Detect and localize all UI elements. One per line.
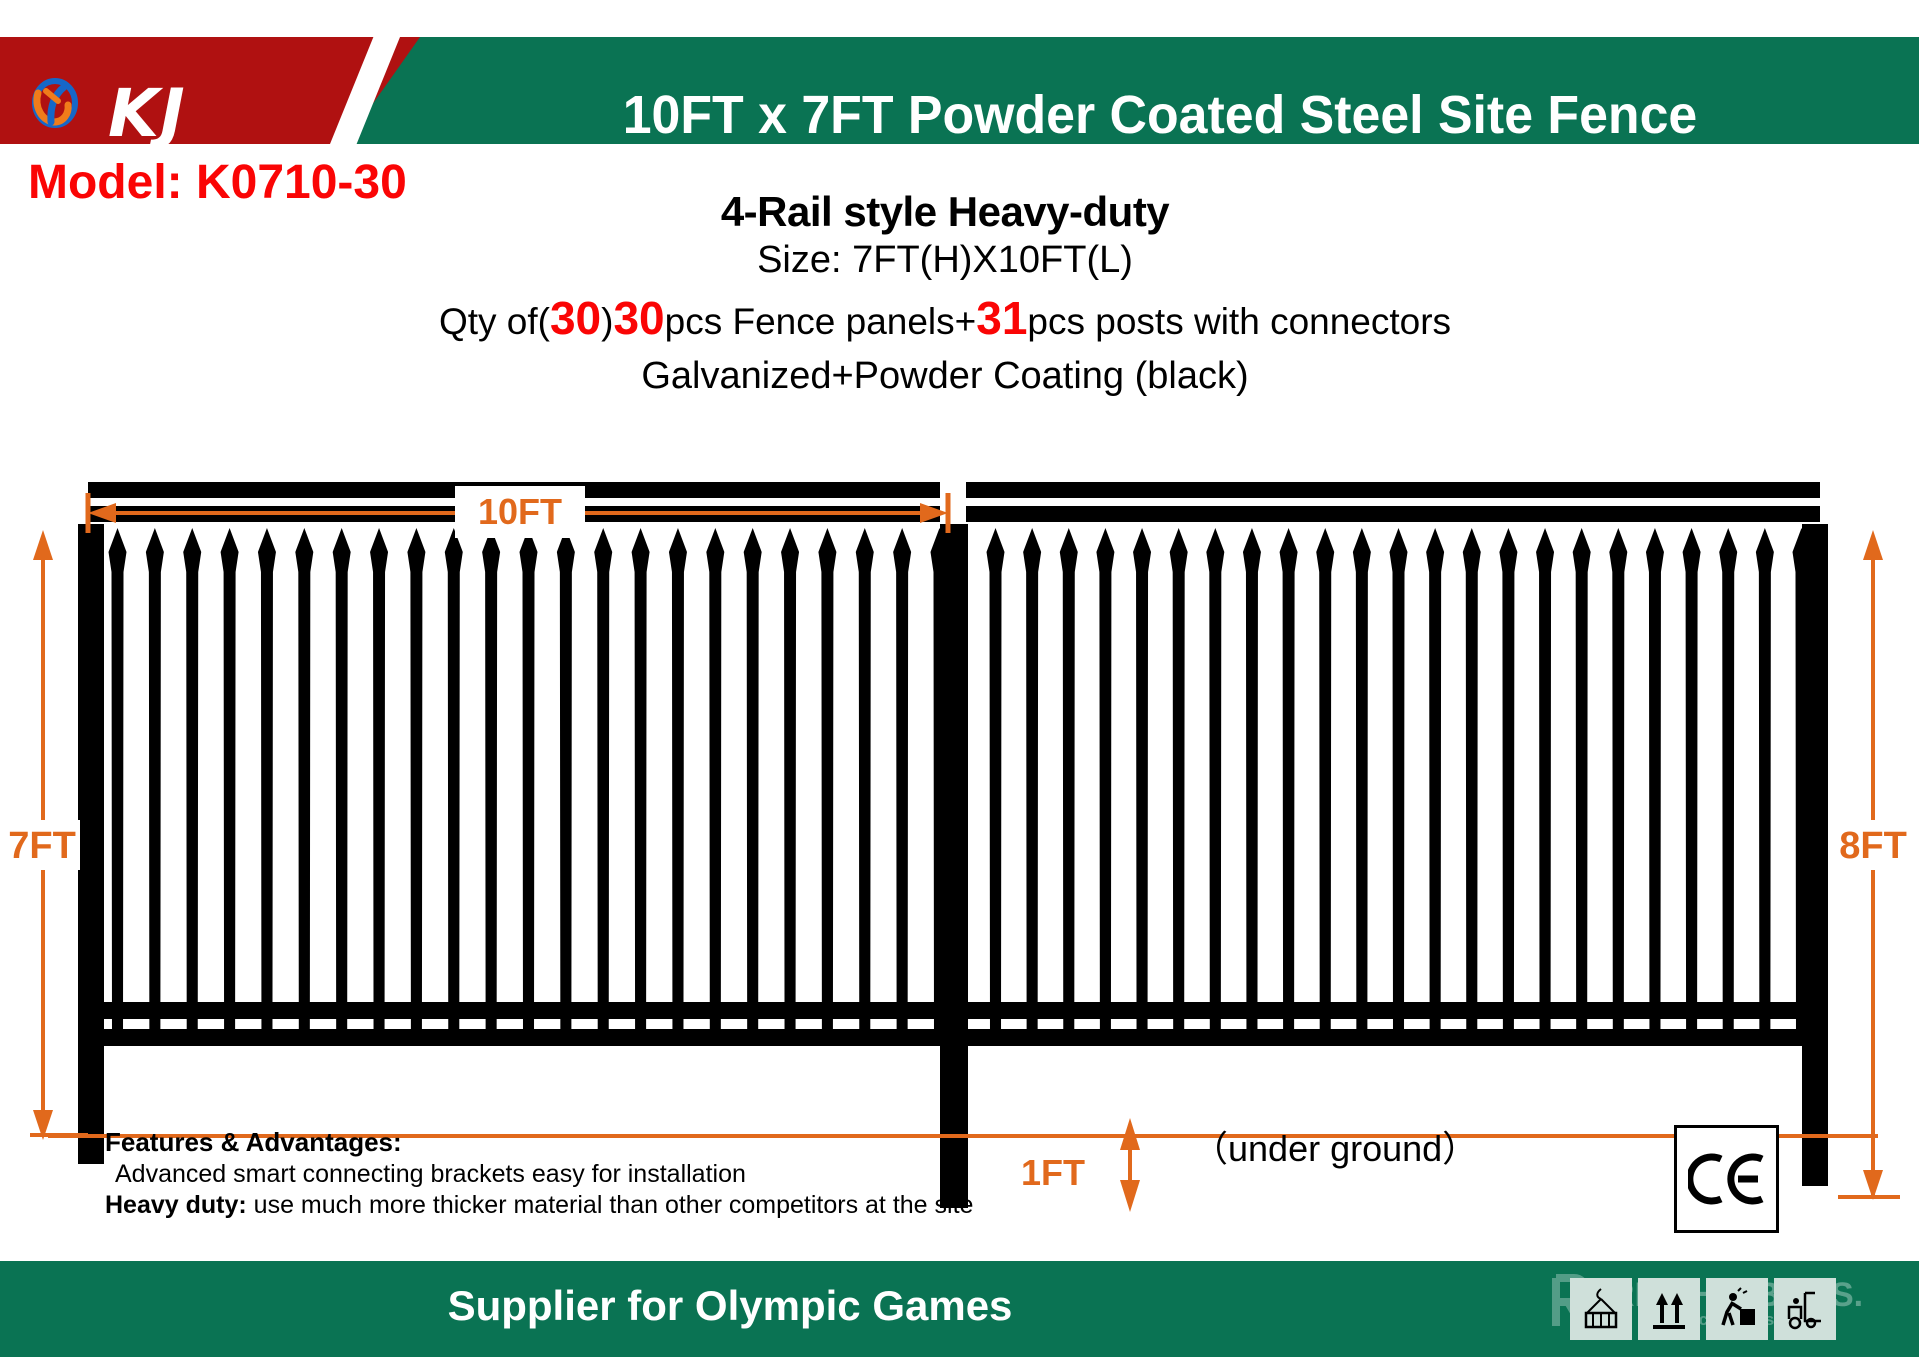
- spec-coating-line: Galvanized+Powder Coating (black): [270, 352, 1620, 401]
- underground-note: （under ground）: [1192, 1120, 1478, 1172]
- fence-picket: [1609, 528, 1627, 1046]
- ce-mark-box: [1674, 1125, 1779, 1233]
- spec-size-line: Size: 7FT(H)X10FT(L): [270, 235, 1620, 286]
- brand-name: KJ: [108, 75, 186, 152]
- picket-group-left: [109, 528, 949, 1046]
- arrow-down-1ft: [1120, 1180, 1140, 1212]
- fence-picket: [482, 528, 500, 1046]
- fence-picket: [1756, 528, 1774, 1046]
- fence-picket: [333, 528, 351, 1046]
- fence-picket: [407, 528, 425, 1046]
- fence-panel-left: [88, 482, 949, 1046]
- fence-picket: [445, 528, 463, 1046]
- dim-label-bg-7ft: [6, 820, 80, 870]
- post-right: [1802, 524, 1828, 1186]
- this-way-up-icon: [1638, 1278, 1700, 1340]
- rail-top-lower-left: [88, 506, 940, 522]
- fence-picket: [520, 528, 538, 1046]
- features-and-advantages: Features & Advantages: Advanced smart co…: [105, 1126, 973, 1222]
- fence-picket: [893, 528, 911, 1046]
- fence-picket: [781, 528, 799, 1046]
- fence-picket: [557, 528, 575, 1046]
- arrow-down-8ft: [1863, 1170, 1883, 1200]
- arrow-up-8ft: [1863, 530, 1883, 560]
- fence-picket: [987, 528, 1005, 1046]
- dimension-height-8ft: [1838, 538, 1900, 1197]
- dim-label-bg-10ft: [455, 486, 585, 538]
- ce-mark-icon: [1688, 1152, 1766, 1206]
- fence-picket: [1096, 528, 1114, 1046]
- fence-picket: [109, 528, 127, 1046]
- fence-picket: [258, 528, 276, 1046]
- features-heading: Features & Advantages:: [105, 1126, 973, 1159]
- qty-prefix: Qty of(: [439, 301, 550, 342]
- dimension-label-7ft: 7FT: [8, 825, 76, 867]
- dimension-label-1ft: 1FT: [1021, 1152, 1085, 1193]
- picket-group-right: [987, 528, 1811, 1046]
- fence-picket: [1023, 528, 1041, 1046]
- fence-picket: [1536, 528, 1554, 1046]
- fence-picket: [594, 528, 612, 1046]
- shipping-icon-group: [1570, 1278, 1836, 1340]
- qty-paren-value: 30: [550, 292, 601, 344]
- features-line-1: Advanced smart connecting brackets easy …: [105, 1159, 973, 1191]
- qty-posts-value: 31: [976, 292, 1027, 344]
- dim-label-bg-8ft: [1833, 820, 1913, 870]
- arrow-up-7ft: [33, 530, 53, 560]
- sling-here-icon: [1570, 1278, 1632, 1340]
- fence-picket: [931, 528, 949, 1046]
- fence-picket: [1280, 528, 1298, 1046]
- arrow-up-1ft: [1120, 1118, 1140, 1150]
- fence-picket: [146, 528, 164, 1046]
- fence-picket: [1206, 528, 1224, 1046]
- fence-picket: [183, 528, 201, 1046]
- specification-block: 4-Rail style Heavy-duty Size: 7FT(H)X10F…: [270, 188, 1620, 401]
- fence-picket: [295, 528, 313, 1046]
- fence-picket: [1170, 528, 1188, 1046]
- features-line-2: Heavy duty: use much more thicker materi…: [105, 1190, 973, 1222]
- rail-top-lower-right: [966, 506, 1820, 522]
- fence-picket: [221, 528, 239, 1046]
- page-header: KJ 10FT x 7FT Powder Coated Steel Site F…: [0, 37, 1919, 144]
- fence-picket: [744, 528, 762, 1046]
- rail-bottom-upper-left: [88, 1002, 940, 1019]
- fence-picket: [856, 528, 874, 1046]
- fence-picket: [1426, 528, 1444, 1046]
- arrow-down-7ft: [33, 1110, 53, 1140]
- fence-picket: [1390, 528, 1408, 1046]
- spec-quantity-line: Qty of(30)30pcs Fence panels+31pcs posts…: [270, 286, 1620, 351]
- fence-picket: [1573, 528, 1591, 1046]
- fence-picket: [1316, 528, 1334, 1046]
- arrow-right-10ft: [920, 503, 948, 523]
- dimension-label-10ft: 10FT: [478, 491, 562, 532]
- fence-picket: [632, 528, 650, 1046]
- fence-picket: [370, 528, 388, 1046]
- rail-bottom-lower-left: [88, 1029, 940, 1046]
- dimension-width-10ft: [88, 493, 948, 533]
- fence-picket: [1499, 528, 1517, 1046]
- fence-picket: [1463, 528, 1481, 1046]
- qty-panels-unit: pcs Fence panels+: [665, 301, 977, 342]
- fence-picket: [669, 528, 687, 1046]
- post-middle: [940, 524, 968, 1208]
- fence-picket: [818, 528, 836, 1046]
- spec-style-title: 4-Rail style Heavy-duty: [270, 188, 1620, 235]
- arrow-left-10ft: [88, 503, 116, 523]
- fence-picket: [1060, 528, 1078, 1046]
- qty-close-paren: ): [601, 301, 613, 342]
- post-left: [78, 524, 104, 1164]
- page-title: 10FT x 7FT Powder Coated Steel Site Fenc…: [445, 84, 1875, 146]
- dimension-label-8ft: 8FT: [1839, 825, 1907, 867]
- fence-picket: [1793, 528, 1811, 1046]
- forklift-icon: [1774, 1278, 1836, 1340]
- fence-picket: [1646, 528, 1664, 1046]
- kj-ellipse-logo-icon: [24, 77, 82, 132]
- rail-bottom-upper-right: [966, 1002, 1820, 1019]
- fence-picket: [1133, 528, 1151, 1046]
- rail-top-upper-left: [88, 482, 940, 498]
- fence-picket: [1683, 528, 1701, 1046]
- fence-picket: [706, 528, 724, 1046]
- fence-panel-right: [966, 482, 1820, 1046]
- features-line-2-text: use much more thicker material than othe…: [247, 1191, 974, 1219]
- features-line-2-label: Heavy duty:: [105, 1191, 247, 1219]
- dimension-height-7ft: [30, 538, 88, 1135]
- qty-panels-value: 30: [613, 292, 664, 344]
- qty-posts-unit: pcs posts with connectors: [1027, 301, 1451, 342]
- fence-picket: [1353, 528, 1371, 1046]
- rail-top-upper-right: [966, 482, 1820, 498]
- fence-picket: [1243, 528, 1261, 1046]
- rail-bottom-lower-right: [966, 1029, 1820, 1046]
- handle-with-care-icon: [1706, 1278, 1768, 1340]
- footer-tagline: Supplier for Olympic Games: [0, 1282, 1460, 1330]
- fence-picket: [1719, 528, 1737, 1046]
